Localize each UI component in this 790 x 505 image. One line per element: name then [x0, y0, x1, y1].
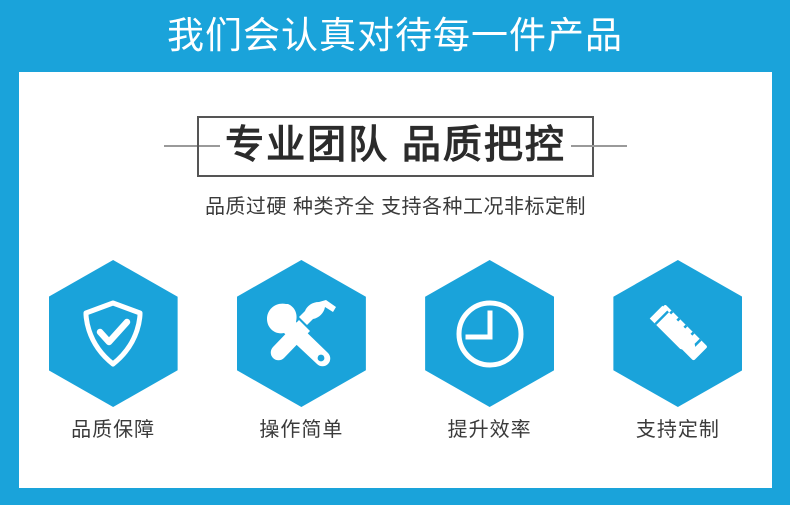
title-rule-right: [571, 145, 627, 147]
section-title: 专业团队 品质把控: [225, 125, 566, 167]
hexagon-badge: [49, 260, 178, 407]
section-subtitle: 品质过硬 种类齐全 支持各种工况非标定制: [19, 194, 772, 220]
feature-label: 支持定制: [636, 418, 720, 442]
ruler-pencil-icon: [639, 296, 717, 372]
headline-band: 我们会认真对待每一件产品: [0, 0, 790, 72]
shield-check-icon: [80, 298, 146, 370]
feature-item: 提升效率: [410, 260, 570, 442]
section-title-row: 专业团队 品质把控: [19, 115, 772, 177]
hexagon-badge: [613, 260, 742, 407]
hexagon-badge: [425, 260, 554, 407]
title-box: 专业团队 品质把控: [197, 116, 594, 177]
feature-label: 操作简单: [259, 418, 343, 442]
feature-list: 品质保障: [19, 260, 772, 442]
feature-label: 提升效率: [448, 418, 532, 442]
hexagon-badge: [237, 260, 366, 407]
feature-item: 品质保障: [33, 260, 193, 442]
wrench-hammer-icon: [263, 298, 339, 370]
feature-label: 品质保障: [71, 418, 155, 442]
feature-item: 支持定制: [598, 260, 758, 442]
clock-icon: [453, 297, 527, 371]
page-title: 我们会认真对待每一件产品: [167, 16, 623, 56]
content-panel: 专业团队 品质把控 品质过硬 种类齐全 支持各种工况非标定制 品质保障: [19, 72, 772, 488]
feature-item: 操作简单: [221, 260, 381, 442]
product-feature-banner: 我们会认真对待每一件产品 专业团队 品质把控 品质过硬 种类齐全 支持各种工况非…: [0, 0, 790, 505]
